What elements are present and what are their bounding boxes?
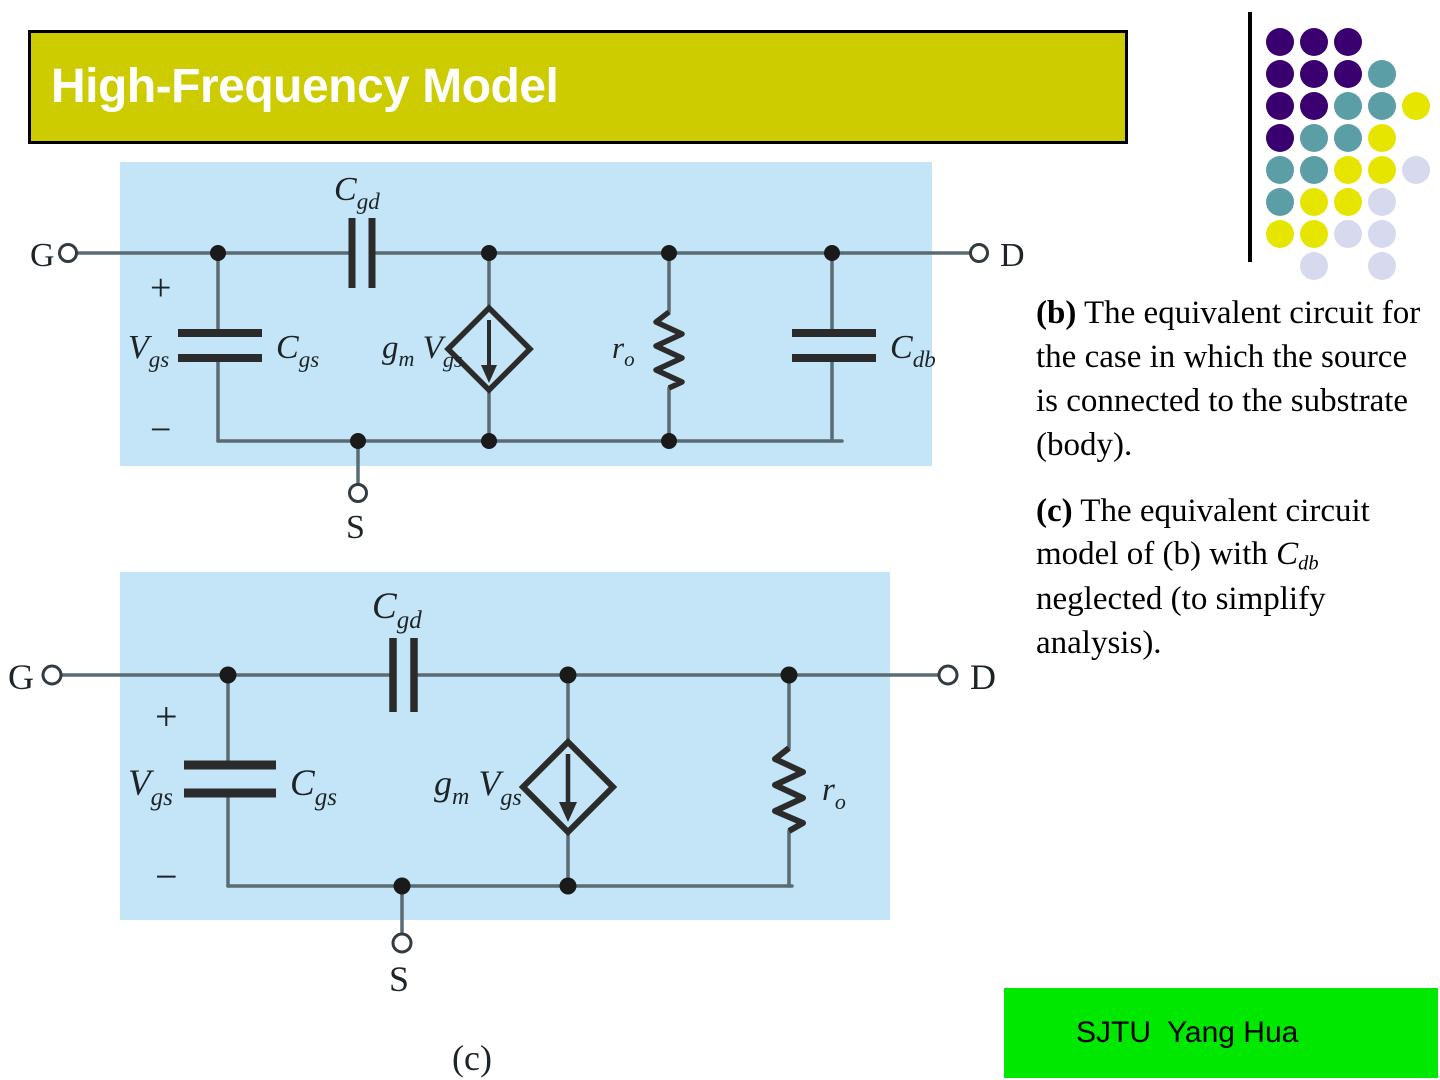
label-minus-b: − <box>150 409 171 451</box>
dependent-current-source-c <box>523 742 613 832</box>
logo-dot-yellow <box>1300 220 1328 248</box>
logo-vertical-bar <box>1248 12 1252 262</box>
label-source-c: S <box>389 959 409 999</box>
footer-author-text: SJTU Yang Hua <box>1004 1016 1298 1050</box>
logo-dot-purple <box>1334 28 1362 56</box>
logo-dot-purple <box>1300 28 1328 56</box>
terminal-drain-c <box>939 666 957 684</box>
label-cgd-c: Cgd <box>372 586 422 634</box>
label-cgs-b: Cgs <box>276 329 319 372</box>
logo-dot-purple <box>1300 92 1328 120</box>
paragraph-b-text: The equivalent circuit for the case in w… <box>1036 295 1420 463</box>
paragraph-c-text-part1: The equivalent circuit model of (b) with <box>1036 493 1370 573</box>
logo-dot-purple <box>1266 124 1294 152</box>
logo-dot-purple <box>1266 92 1294 120</box>
logo-dot-yellow <box>1334 156 1362 184</box>
label-drain-c: D <box>970 657 996 697</box>
label-plus-c: + <box>155 694 178 739</box>
label-drain-b: D <box>1000 237 1025 274</box>
capacitor-cgs-c <box>184 765 276 793</box>
paragraph-c: (c) The equivalent circuit model of (b) … <box>1036 490 1426 667</box>
label-vgs-c: Vgs <box>128 763 173 811</box>
circuit-diagram-c: G D S Cgd Cgs Vgs gm Vgs ro + − (c) <box>0 550 1100 1080</box>
logo-dot-teal <box>1368 60 1396 88</box>
logo-dot-yellow <box>1266 220 1294 248</box>
paragraph-c-symbol: C <box>1276 536 1298 572</box>
decorative-dot-grid-logo <box>1248 12 1428 270</box>
logo-dot-purple <box>1300 60 1328 88</box>
label-source-b: S <box>346 509 365 546</box>
logo-dot-teal <box>1266 188 1294 216</box>
resistor-ro-b <box>656 312 682 388</box>
terminal-source-b <box>350 485 367 502</box>
logo-dot-lavender <box>1368 188 1396 216</box>
paragraph-b: (b) The equivalent circuit for the case … <box>1036 292 1426 468</box>
terminal-drain-b <box>971 245 988 262</box>
page-title: High-Frequency Model <box>31 63 558 111</box>
paragraph-c-symbol-subscript: db <box>1298 553 1318 575</box>
logo-dot-lavender <box>1402 156 1430 184</box>
logo-dot-yellow <box>1402 92 1430 120</box>
description-text-block: (b) The equivalent circuit for the case … <box>1036 292 1426 688</box>
slide-title-bar: High-Frequency Model <box>28 30 1128 144</box>
terminal-source-c <box>393 934 411 952</box>
label-minus-c: − <box>155 854 178 899</box>
capacitor-cgs-b <box>178 333 262 358</box>
logo-dot-purple <box>1334 60 1362 88</box>
logo-dot-teal <box>1334 92 1362 120</box>
caption-circuit-c: (c) <box>452 1038 492 1078</box>
logo-dot-lavender <box>1334 220 1362 248</box>
terminal-gate-c <box>43 666 61 684</box>
paragraph-c-label: (c) <box>1036 493 1073 529</box>
logo-dot-purple <box>1266 28 1294 56</box>
label-gmvgs-b: gm Vgs <box>382 330 462 372</box>
paragraph-b-label: (b) <box>1036 295 1076 331</box>
logo-dot-teal <box>1300 124 1328 152</box>
label-cgs-c: Cgs <box>290 763 337 811</box>
terminal-gate-b <box>60 245 77 262</box>
logo-dot-teal <box>1300 156 1328 184</box>
label-gmvgs-c: gm Vgs <box>434 763 522 811</box>
paragraph-c-text-part2: neglected (to simplify analysis). <box>1036 581 1326 661</box>
circuit-diagram-b: G D S Cgd Cgs Cdb Vgs gm Vgs ro + − <box>0 140 1100 560</box>
logo-dot-teal <box>1334 124 1362 152</box>
label-cgd-b: Cgd <box>334 171 380 214</box>
logo-dot-lavender <box>1368 220 1396 248</box>
logo-dot-yellow <box>1334 188 1362 216</box>
logo-dot-lavender <box>1300 252 1328 280</box>
label-plus-b: + <box>150 267 171 309</box>
logo-dot-yellow <box>1300 188 1328 216</box>
capacitor-cgd-b <box>352 218 372 288</box>
logo-dot-yellow <box>1368 124 1396 152</box>
label-cdb-b: Cdb <box>890 329 936 372</box>
capacitor-cgd-c <box>393 638 414 712</box>
resistor-ro-c <box>775 748 803 831</box>
label-vgs-b: Vgs <box>128 329 169 372</box>
logo-dot-teal <box>1266 156 1294 184</box>
label-ro-b: ro <box>612 330 635 371</box>
logo-dot-teal <box>1368 92 1396 120</box>
logo-dot-purple <box>1266 60 1294 88</box>
label-gate-c: G <box>8 657 34 697</box>
capacitor-cdb-b <box>792 333 876 358</box>
logo-dot-yellow <box>1368 156 1396 184</box>
footer-badge: SJTU Yang Hua <box>1004 988 1438 1078</box>
label-gate-b: G <box>30 237 55 274</box>
logo-dot-lavender <box>1368 252 1396 280</box>
label-ro-c: ro <box>822 772 846 814</box>
